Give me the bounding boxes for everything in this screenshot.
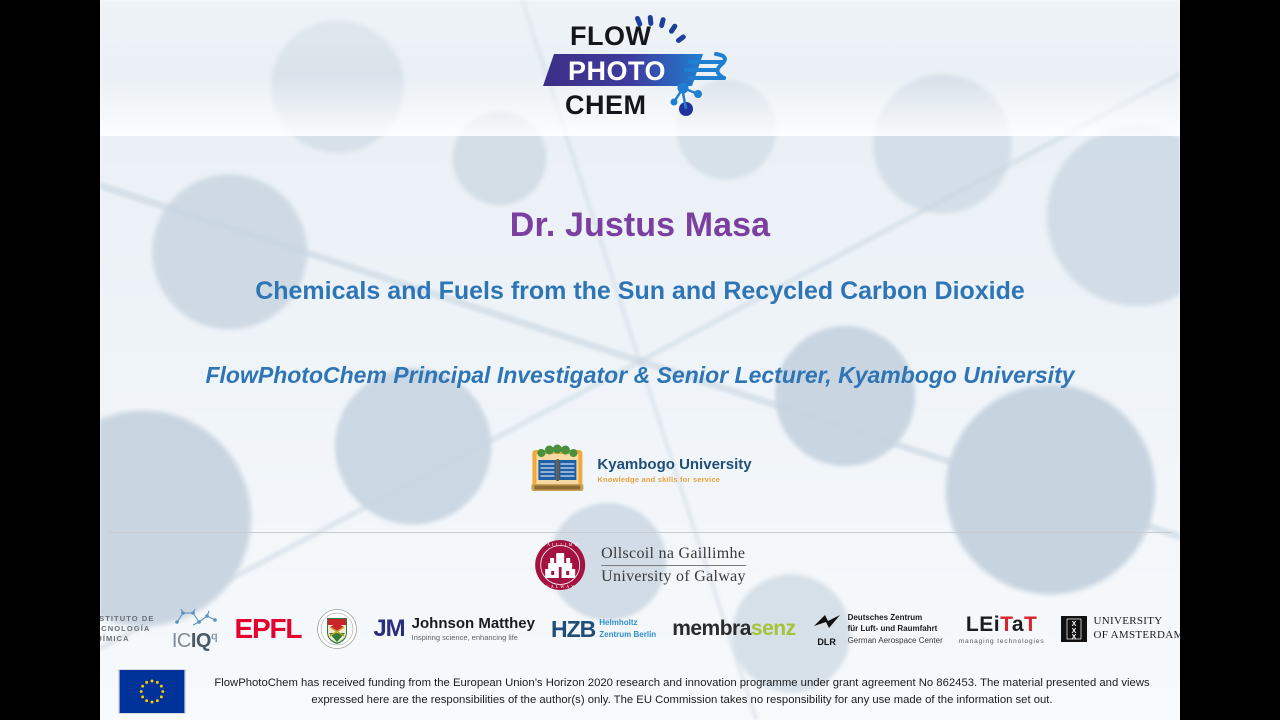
itq-line-1: INSTITUTO DE: [100, 614, 155, 624]
partner-logo-university-of-amsterdam: XXX UNIVERSITY OF AMSTERDAM: [1061, 615, 1180, 643]
uva-line-2: OF AMSTERDAM: [1094, 629, 1180, 643]
jm-tagline: Inspiring science, enhancing life: [412, 633, 535, 642]
itq-line-3: QUÍMICA: [100, 634, 155, 644]
svg-text:· G A L W A Y ·: · G A L W A Y ·: [542, 584, 578, 589]
leitat-tagline: managing technologies: [959, 638, 1045, 645]
kyambogo-motto: Knowledge and skills for service: [597, 475, 751, 484]
partner-logo-strip: itq INSTITUTO DE TECNOLOGÍA QUÍMICA: [100, 600, 1180, 658]
flowphotochem-logo-icon: FLOW PHOTO CHEM: [540, 14, 740, 122]
kyambogo-crest-icon: [528, 444, 586, 496]
partner-logo-membrasenz: membrasenz: [672, 617, 795, 641]
iciq-word-b: IQ: [191, 630, 211, 652]
jm-monogram: JM: [373, 615, 404, 643]
kyambogo-university-logo: Kyambogo University Knowledge and skills…: [528, 444, 751, 496]
leitat-word-b: T: [1000, 613, 1012, 636]
leitat-word-a: LEi: [966, 613, 1000, 636]
galway-irish-name: Ollscoil na Gaillimhe: [601, 545, 746, 566]
partner-logo-iciq: ICIQq: [171, 608, 219, 651]
iciq-molecule-icon: [171, 608, 219, 626]
speaker-affiliation: FlowPhotoChem Principal Investigator & S…: [100, 361, 1180, 390]
dlr-line-3: German Aerospace Center: [848, 635, 943, 646]
galway-english-name: University of Galway: [601, 566, 746, 586]
svg-text:X: X: [1071, 621, 1076, 628]
itq-text: INSTITUTO DE TECNOLOGÍA QUÍMICA: [100, 614, 155, 644]
svg-text:X: X: [1071, 634, 1076, 641]
hzb-line-2: Zentrum Berlin: [599, 629, 656, 641]
dlr-mark-icon: [812, 612, 842, 634]
membrasenz-word-a: membra: [672, 617, 751, 640]
partner-logo-hzb: HZB Helmholtz Zentrum Berlin: [551, 616, 656, 643]
uva-shield-icon: XXX: [1061, 616, 1087, 642]
presentation-slide: FLOW PHOTO CHEM: [100, 0, 1180, 720]
epfl-wordmark: EPFL: [235, 613, 302, 645]
iciq-superscript: q: [211, 630, 217, 642]
kyambogo-name: Kyambogo University: [597, 456, 751, 473]
itq-line-2: TECNOLOGÍA: [100, 624, 155, 634]
leitat-accent: a: [1012, 613, 1024, 636]
talk-title: Chemicals and Fuels from the Sun and Rec…: [100, 276, 1180, 307]
partner-logo-johnson-matthey: JM Johnson Matthey Inspiring science, en…: [373, 615, 535, 643]
eu-funding-footer: FlowPhotoChem has received funding from …: [100, 663, 1180, 720]
membrasenz-word-b: senz: [751, 617, 796, 640]
partner-logo-itq: itq INSTITUTO DE TECNOLOGÍA QUÍMICA: [100, 609, 155, 649]
dlr-line-2: für Luft- und Raumfahrt: [848, 623, 943, 634]
uva-line-1: UNIVERSITY: [1094, 615, 1180, 629]
dlr-line-1: Deutsches Zentrum: [848, 612, 943, 623]
galway-text: Ollscoil na Gaillimhe University of Galw…: [601, 545, 746, 586]
section-divider: [108, 532, 1172, 533]
hzb-line-1: Helmholtz: [599, 617, 656, 629]
iciq-wordmark: ICIQq: [171, 631, 219, 651]
partner-logo-crest: [317, 608, 357, 650]
flowphotochem-logo: FLOW PHOTO CHEM: [540, 14, 740, 122]
membrasenz-wordmark: membrasenz: [672, 617, 795, 641]
kyambogo-text: Kyambogo University Knowledge and skills…: [597, 456, 751, 484]
hzb-wordmark: HZB: [551, 616, 595, 643]
title-block: Dr. Justus Masa Chemicals and Fuels from…: [100, 205, 1180, 390]
partner-logo-epfl: EPFL: [235, 613, 302, 645]
galway-crest-icon: G A I L L I M H · G A L W A Y ·: [534, 539, 586, 591]
makerere-crest-icon: [317, 608, 357, 650]
screen: FLOW PHOTO CHEM: [0, 0, 1280, 720]
svg-text:CHEM: CHEM: [565, 90, 647, 120]
leitat-wordmark: LEiTaT: [959, 614, 1045, 635]
eu-funding-statement: FlowPhotoChem has received funding from …: [208, 675, 1156, 708]
iciq-word-a: IC: [172, 630, 191, 652]
svg-text:FLOW: FLOW: [570, 21, 651, 51]
partner-logo-leitat: LEiTaT managing technologies: [959, 614, 1045, 645]
european-union-flag-icon: [118, 669, 186, 714]
svg-text:G A I L L I M H: G A I L L I M H: [542, 542, 578, 547]
partner-logo-dlr: DLR Deutsches Zentrum für Luft- und Raum…: [812, 612, 943, 647]
svg-text:PHOTO: PHOTO: [568, 56, 666, 86]
slide-header: FLOW PHOTO CHEM: [100, 0, 1180, 136]
dlr-abbreviation: DLR: [812, 637, 842, 647]
leitat-word-c: T: [1024, 613, 1037, 636]
university-of-galway-logo: G A I L L I M H · G A L W A Y · Ollscoil…: [534, 539, 746, 591]
speaker-name: Dr. Justus Masa: [100, 205, 1180, 246]
jm-name: Johnson Matthey: [412, 616, 535, 632]
